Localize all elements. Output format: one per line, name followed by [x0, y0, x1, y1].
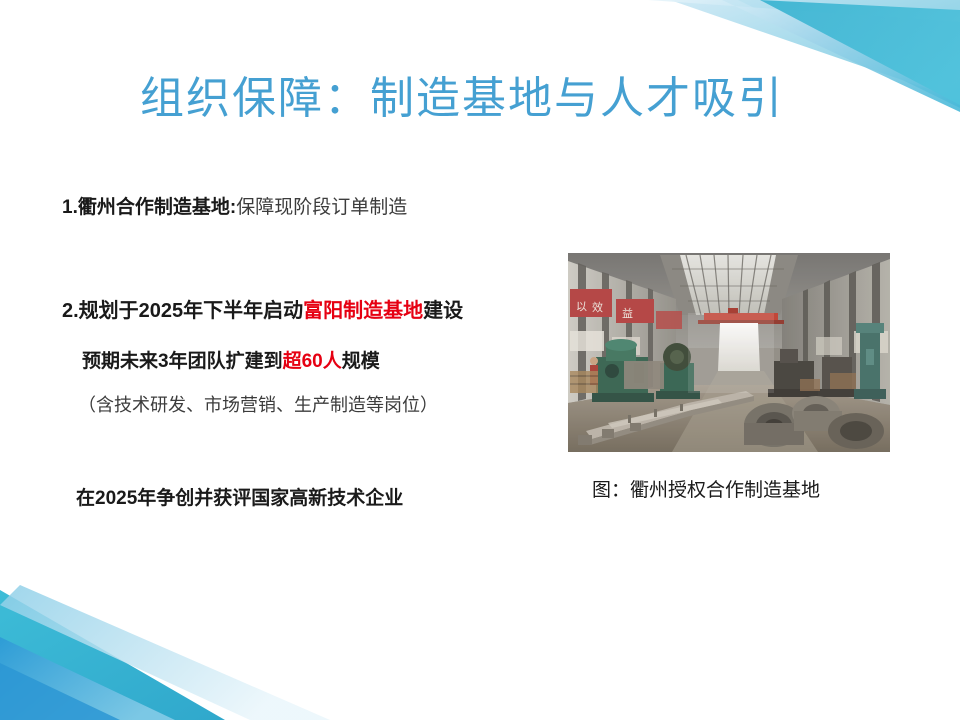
- factory-workshop-photo: 以 效 益: [568, 253, 890, 452]
- bullet-line-1: 1.衢州合作制造基地:保障现阶段订单制造: [62, 198, 407, 219]
- bullet-line-2: 2.规划于2025年下半年启动富阳制造基地建设: [62, 300, 463, 322]
- slide-canvas: 组织保障：制造基地与人才吸引 1.衢州合作制造基地:保障现阶段订单制造 2.规划…: [0, 0, 960, 720]
- bullet-3-part1: 预期未来3年团队扩建到: [82, 351, 283, 372]
- photo-caption: 图：衢州授权合作制造基地: [592, 475, 820, 502]
- bullet-line-4: （含技术研发、市场营销、生产制造等岗位）: [78, 396, 438, 416]
- bullet-2-highlight: 富阳制造基地: [303, 300, 423, 322]
- bullet-2-part2: 建设: [423, 300, 463, 322]
- bullet-3-part2: 规模: [342, 351, 380, 372]
- diagonal-ribbon-bottom-left-icon: [0, 545, 330, 720]
- bullet-line-3: 预期未来3年团队扩建到超60人规模: [82, 352, 380, 373]
- bullet-1-label: 1.衢州合作制造基地:: [62, 197, 236, 218]
- bullet-2-part1: 2.规划于2025年下半年启动: [62, 300, 303, 322]
- page-title: 组织保障：制造基地与人才吸引: [140, 62, 784, 126]
- bullet-line-5: 在2025年争创并获评国家高新技术企业: [76, 489, 403, 510]
- bullet-1-detail: 保障现阶段订单制造: [236, 197, 407, 218]
- bullet-3-highlight: 超60人: [283, 351, 342, 372]
